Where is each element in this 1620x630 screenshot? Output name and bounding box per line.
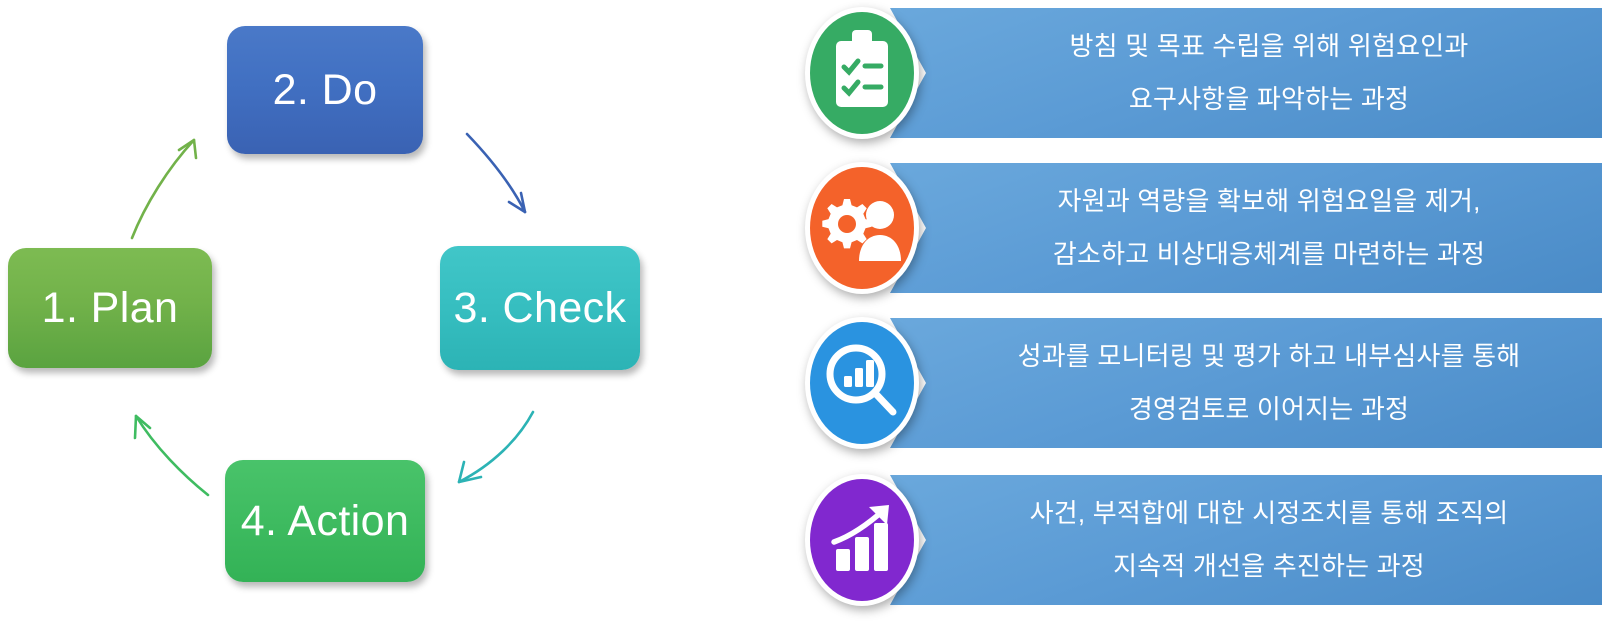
process-banner-action-line-2: 지속적 개선을 추진하는 과정 <box>1113 553 1425 580</box>
arrow-check-to-action <box>459 412 533 482</box>
pdca-node-do-label: 2. Do <box>273 66 378 115</box>
gear-person-icon <box>801 157 923 299</box>
process-banner-plan[interactable]: 방침 및 목표 수립을 위해 위험요인과 요구사항을 파악하는 과정 <box>890 8 1602 138</box>
process-banner-do[interactable]: 자원과 역량을 확보해 위험요일을 제거, 감소하고 비상대응체계를 마련하는 … <box>890 163 1602 293</box>
process-banner-action[interactable]: 사건, 부적합에 대한 시정조치를 통해 조직의 지속적 개선을 추진하는 과정 <box>890 475 1602 605</box>
process-row-check[interactable]: 성과를 모니터링 및 평가 하고 내부심사를 통해 경영검토로 이어지는 과정 <box>795 312 1620 457</box>
diagram-canvas: 1. Plan 2. Do 3. Check 4. Action 방침 및 목표… <box>0 0 1620 630</box>
growth-barchart-arrow-icon <box>801 469 923 611</box>
arrow-action-to-plan <box>135 416 208 495</box>
pdca-node-check[interactable]: 3. Check <box>440 246 640 370</box>
process-banner-do-line-1: 자원과 역량을 확보해 위험요일을 제거, <box>1057 188 1480 215</box>
process-banner-plan-line-2: 요구사항을 파악하는 과정 <box>1129 86 1409 113</box>
process-banner-check-line-2: 경영검토로 이어지는 과정 <box>1129 396 1409 423</box>
pdca-node-plan-label: 1. Plan <box>42 284 179 333</box>
pdca-node-action[interactable]: 4. Action <box>225 460 425 582</box>
process-banner-action-line-1: 사건, 부적합에 대한 시정조치를 통해 조직의 <box>1030 500 1509 527</box>
process-banner-do-line-2: 감소하고 비상대응체계를 마련하는 과정 <box>1053 241 1485 268</box>
magnifier-barchart-icon <box>801 312 923 454</box>
pdca-cycle: 1. Plan 2. Do 3. Check 4. Action <box>0 0 700 630</box>
process-row-plan[interactable]: 방침 및 목표 수립을 위해 위험요인과 요구사항을 파악하는 과정 <box>795 2 1620 147</box>
pdca-node-plan[interactable]: 1. Plan <box>8 248 212 368</box>
arrow-do-to-check <box>467 134 525 212</box>
pdca-node-check-label: 3. Check <box>454 284 627 333</box>
process-row-do[interactable]: 자원과 역량을 확보해 위험요일을 제거, 감소하고 비상대응체계를 마련하는 … <box>795 157 1620 302</box>
process-description-list: 방침 및 목표 수립을 위해 위험요인과 요구사항을 파악하는 과정 <box>795 0 1620 630</box>
process-banner-check[interactable]: 성과를 모니터링 및 평가 하고 내부심사를 통해 경영검토로 이어지는 과정 <box>890 318 1602 448</box>
process-row-action[interactable]: 사건, 부적합에 대한 시정조치를 통해 조직의 지속적 개선을 추진하는 과정 <box>795 469 1620 614</box>
process-banner-plan-line-1: 방침 및 목표 수립을 위해 위험요인과 <box>1070 33 1469 60</box>
clipboard-checklist-icon <box>801 2 923 144</box>
pdca-node-do[interactable]: 2. Do <box>227 26 423 154</box>
process-banner-check-line-1: 성과를 모니터링 및 평가 하고 내부심사를 통해 <box>1018 343 1521 370</box>
arrow-plan-to-do <box>132 140 196 238</box>
pdca-node-action-label: 4. Action <box>241 497 410 546</box>
